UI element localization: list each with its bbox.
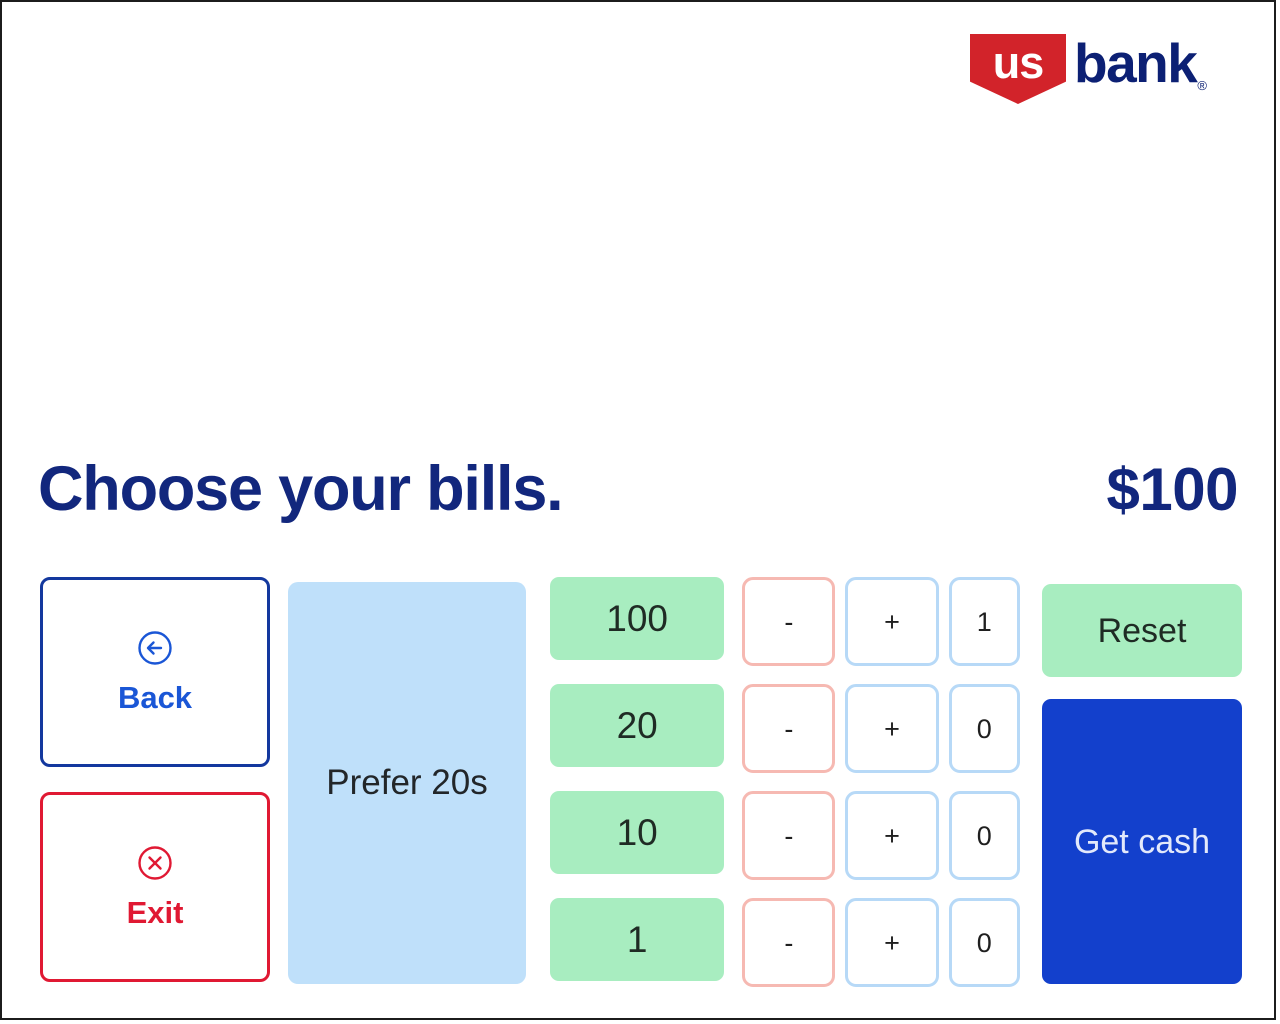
decrement-button-100[interactable]: -	[742, 577, 835, 666]
decrement-button-20[interactable]: -	[742, 684, 835, 773]
increment-button-10[interactable]: +	[845, 791, 938, 880]
get-cash-button[interactable]: Get cash	[1042, 699, 1242, 984]
denomination-chip-1[interactable]: 1	[550, 898, 724, 981]
back-button-label: Back	[118, 681, 192, 715]
denomination-row: 1 - + 0	[550, 898, 1020, 981]
prefer-20s-button[interactable]: Prefer 20s	[288, 582, 526, 984]
increment-button-1[interactable]: +	[845, 898, 938, 987]
denomination-row: 100 - + 1	[550, 577, 1020, 660]
count-value-10: 0	[949, 791, 1020, 880]
count-value-20: 0	[949, 684, 1020, 773]
prefer-20s-label: Prefer 20s	[326, 763, 487, 803]
increment-button-100[interactable]: +	[845, 577, 938, 666]
count-value-1: 0	[949, 898, 1020, 987]
denomination-chip-100[interactable]: 100	[550, 577, 724, 660]
exit-button[interactable]: Exit	[40, 792, 270, 982]
reset-button[interactable]: Reset	[1042, 584, 1242, 677]
denomination-row: 10 - + 0	[550, 791, 1020, 874]
count-value-100: 1	[949, 577, 1020, 666]
decrement-button-1[interactable]: -	[742, 898, 835, 987]
denomination-chip-20[interactable]: 20	[550, 684, 724, 767]
atm-screen: us bank® Choose your bills. $100 Back	[0, 0, 1276, 1020]
denomination-chip-10[interactable]: 10	[550, 791, 724, 874]
circle-arrow-left-icon	[137, 630, 173, 671]
decrement-button-10[interactable]: -	[742, 791, 835, 880]
denomination-list: 100 - + 1 20 - + 0 10 - + 0 1 - + 0	[550, 577, 1020, 984]
controls-area: Back Exit Prefer 20s 100 - + 1	[2, 2, 1274, 1018]
back-button[interactable]: Back	[40, 577, 270, 767]
exit-button-label: Exit	[127, 896, 184, 930]
increment-button-20[interactable]: +	[845, 684, 938, 773]
denomination-row: 20 - + 0	[550, 684, 1020, 767]
circle-x-icon	[137, 845, 173, 886]
